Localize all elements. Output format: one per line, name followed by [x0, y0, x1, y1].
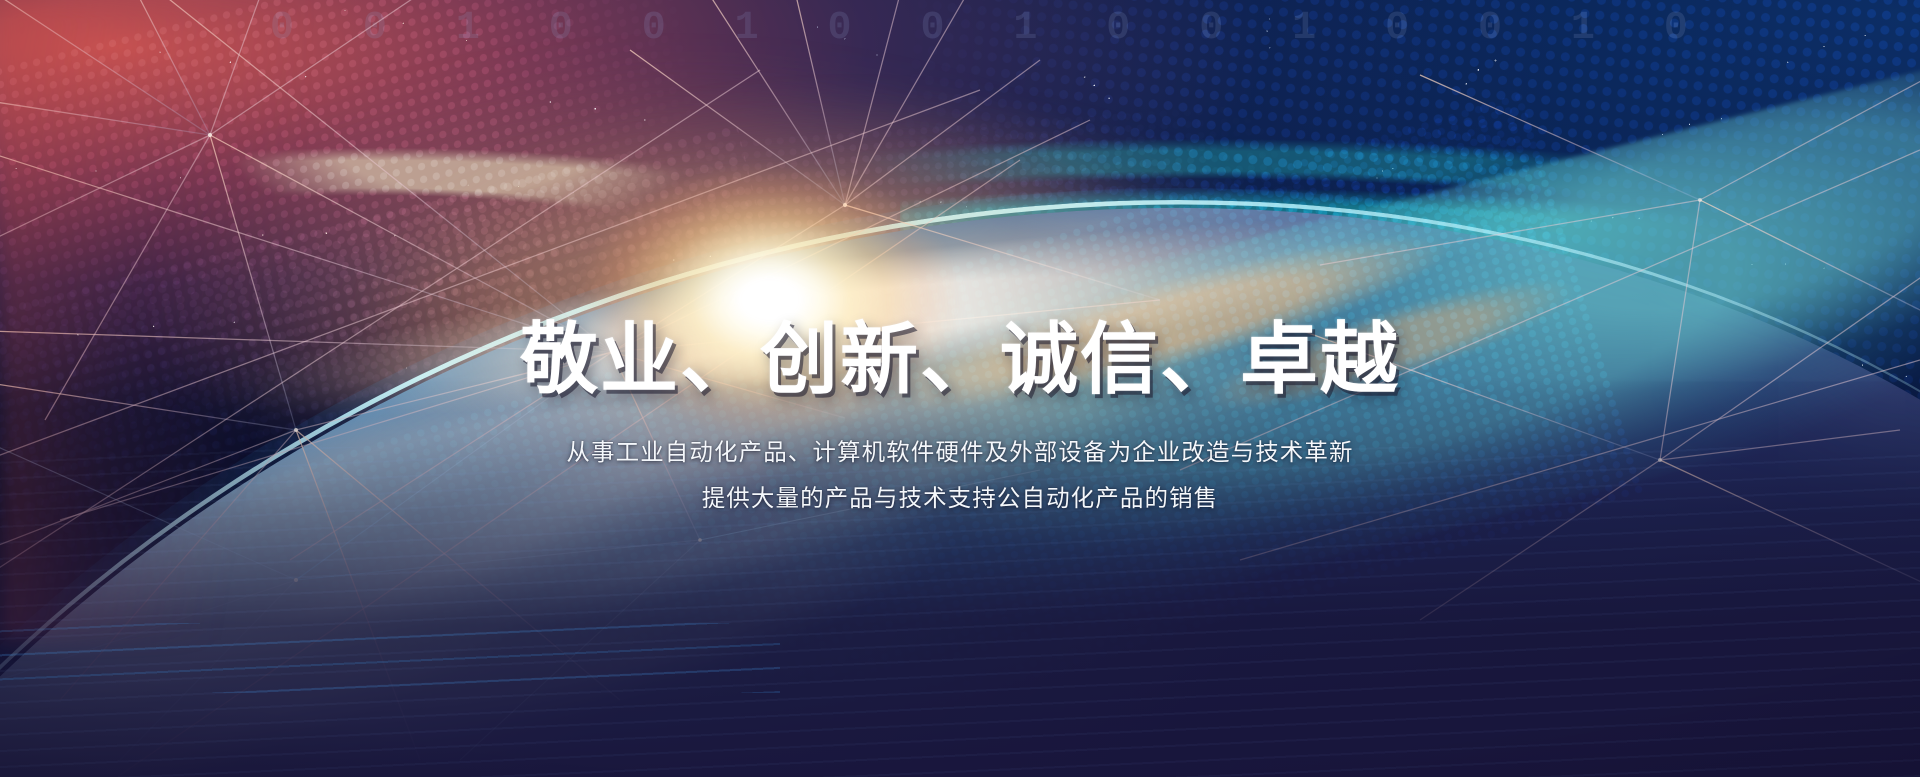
banner-copy: 敬业、创新、诚信、卓越 从事工业自动化产品、计算机软件硬件及外部设备为企业改造与… [0, 318, 1920, 522]
hero-banner: 0010010010010010 [0, 0, 1920, 777]
banner-headline: 敬业、创新、诚信、卓越 [0, 318, 1920, 401]
banner-subtitle: 从事工业自动化产品、计算机软件硬件及外部设备为企业改造与技术革新 提供大量的产品… [0, 429, 1920, 522]
banner-subtitle-line-1: 从事工业自动化产品、计算机软件硬件及外部设备为企业改造与技术革新 [0, 429, 1920, 476]
banner-subtitle-line-2: 提供大量的产品与技术支持公自动化产品的销售 [0, 475, 1920, 522]
